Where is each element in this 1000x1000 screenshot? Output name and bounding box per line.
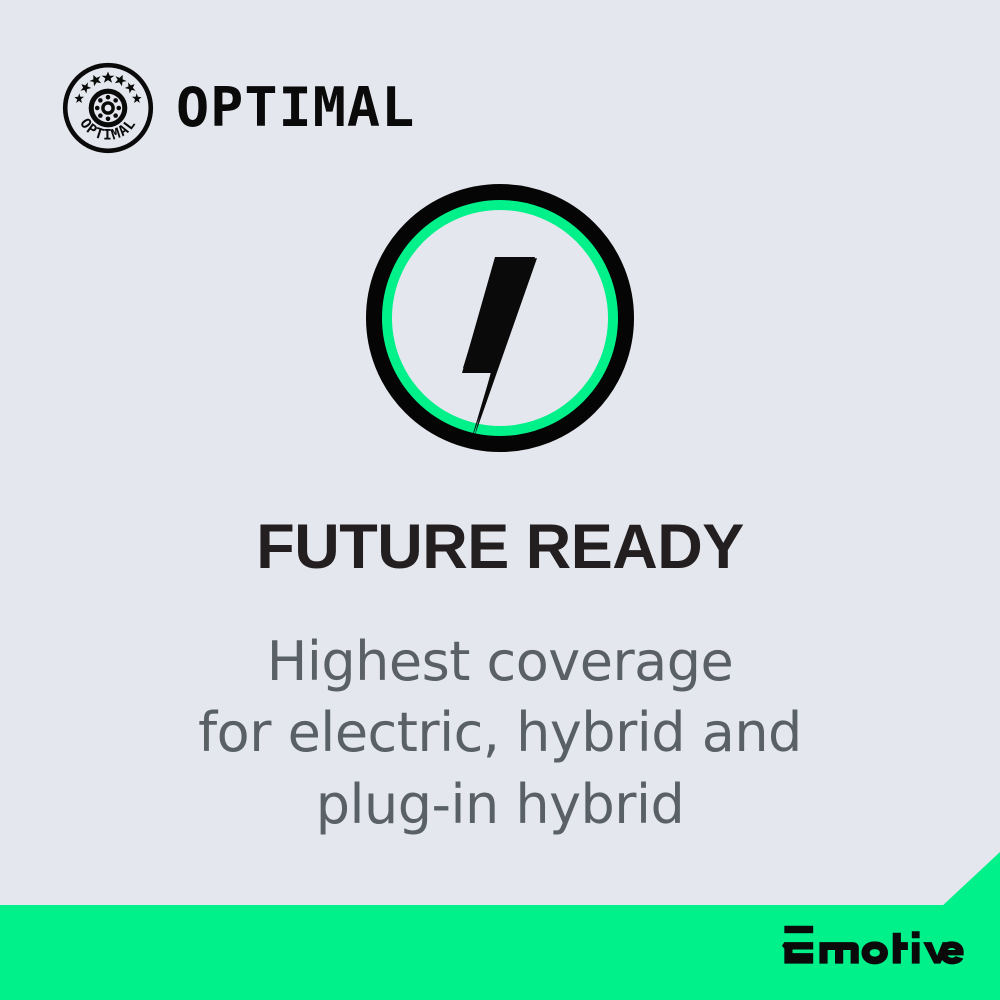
subtitle: Highest coverage for electric, hybrid an… (0, 626, 1000, 840)
subtitle-line-3: plug-in hybrid (0, 769, 1000, 840)
footer-corner-notch (940, 852, 1000, 908)
promo-card: OPTIMAL OPTIMAL (0, 0, 1000, 1000)
page-title: FUTURE READY (0, 516, 1000, 579)
emotive-wordmark-logo (782, 920, 965, 976)
brand-name: OPTIMAL (176, 81, 415, 135)
optimal-bearing-badge-icon: OPTIMAL (62, 62, 154, 154)
lightning-bolt-in-circle-icon (366, 184, 634, 452)
subtitle-line-1: Highest coverage (0, 626, 1000, 697)
brand-lockup: OPTIMAL OPTIMAL (62, 62, 411, 154)
subtitle-line-2: for electric, hybrid and (0, 697, 1000, 768)
